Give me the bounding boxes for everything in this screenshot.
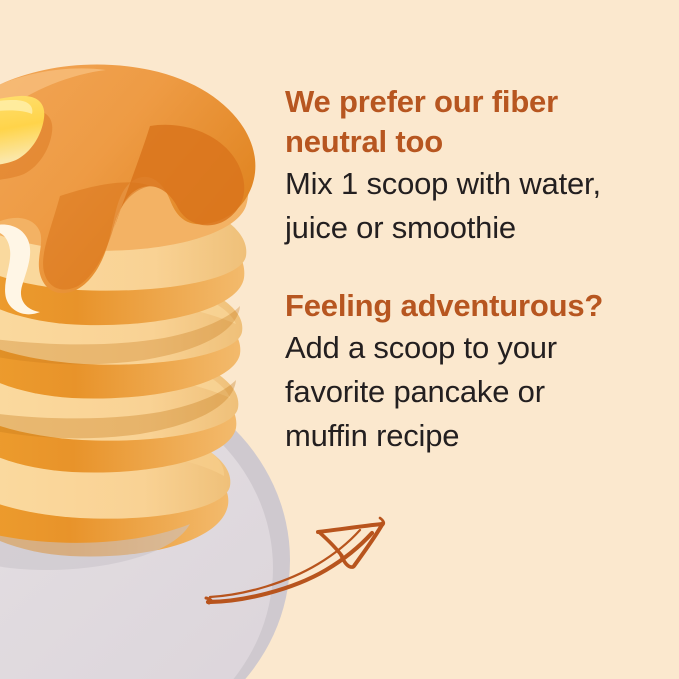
plate-shape bbox=[0, 365, 290, 679]
block-one-body-line-1: Mix 1 scoop with water, bbox=[285, 162, 655, 206]
butter-pat bbox=[0, 96, 52, 182]
pancake-layer-three bbox=[0, 337, 238, 472]
copy-block-two: Feeling adventurous? Add a scoop to your… bbox=[285, 286, 655, 458]
product-info-panel: We prefer our fiber neutral too Mix 1 sc… bbox=[0, 0, 679, 679]
pancake-layer-top bbox=[0, 179, 246, 325]
pancake-stack-illustration bbox=[0, 0, 320, 679]
block-one-heading-line-1: We prefer our fiber bbox=[285, 82, 655, 122]
pancake-layer-bottom bbox=[0, 413, 230, 556]
syrup-drizzle bbox=[0, 65, 255, 315]
pancake-top-surface bbox=[0, 101, 248, 251]
block-two-body-line-1: Add a scoop to your bbox=[285, 326, 655, 370]
block-two-body-line-3: muffin recipe bbox=[285, 414, 655, 458]
block-two-heading: Feeling adventurous? bbox=[285, 286, 655, 326]
block-one-heading-line-2: neutral too bbox=[285, 122, 655, 162]
block-one-body-line-2: juice or smoothie bbox=[285, 206, 655, 250]
copy-block-one: We prefer our fiber neutral too Mix 1 sc… bbox=[285, 82, 655, 250]
curved-up-right-arrow-icon bbox=[196, 498, 416, 628]
block-two-body-line-2: favorite pancake or bbox=[285, 370, 655, 414]
block-two-body: Add a scoop to your favorite pancake or … bbox=[285, 326, 655, 458]
block-one-body: Mix 1 scoop with water, juice or smoothi… bbox=[285, 162, 655, 250]
copy-container: We prefer our fiber neutral too Mix 1 sc… bbox=[285, 82, 655, 458]
block-two-heading-line-1: Feeling adventurous? bbox=[285, 286, 655, 326]
pancake-layer-two bbox=[0, 261, 242, 398]
stack-shadow bbox=[0, 518, 190, 570]
block-one-heading: We prefer our fiber neutral too bbox=[285, 82, 655, 162]
